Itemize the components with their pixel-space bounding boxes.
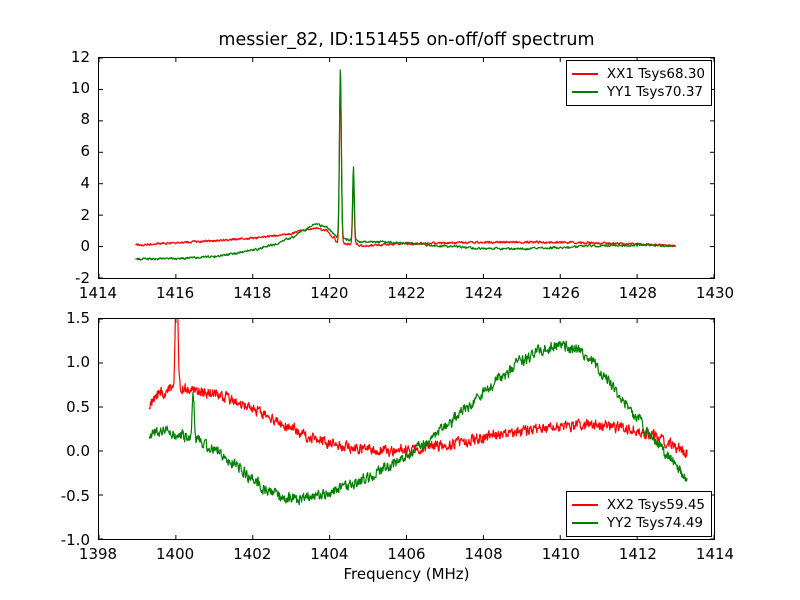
ytick-top-7: 12 (48, 48, 90, 66)
series-line-xx1 (136, 84, 676, 247)
top-panel-axes: XX1 Tsys68.30 YY1 Tsys70.37 (98, 57, 715, 279)
legend-label-xx1: XX1 Tsys68.30 (607, 65, 705, 83)
ytick-top-2: 2 (48, 206, 90, 224)
xtick-bottom-4: 1406 (387, 545, 425, 563)
legend-line-icon-yy1 (572, 91, 598, 93)
xtick-bottom-6: 1410 (542, 545, 580, 563)
bottom-panel-axes: XX2 Tsys59.45 YY2 Tsys74.49 (98, 318, 715, 540)
legend-label-yy1: YY1 Tsys70.37 (607, 83, 703, 101)
page-title: messier_82, ID:151455 on-off/off spectru… (98, 30, 715, 50)
legend-item-yy1: YY1 Tsys70.37 (572, 83, 705, 101)
ytick-bottom-3: 0.5 (36, 398, 90, 416)
xtick-top-5: 1424 (465, 284, 503, 302)
xtick-bottom-1: 1400 (156, 545, 194, 563)
top-panel-legend: XX1 Tsys68.30 YY1 Tsys70.37 (566, 60, 712, 106)
figure-canvas: messier_82, ID:151455 on-off/off spectru… (0, 0, 800, 600)
ytick-top-5: 8 (48, 110, 90, 128)
legend-line-icon-xx2 (572, 504, 598, 506)
xtick-top-1: 1416 (156, 284, 194, 302)
ytick-bottom-5: 1.5 (36, 309, 90, 327)
xtick-top-2: 1418 (233, 284, 271, 302)
bottom-panel-xlabel: Frequency (MHz) (98, 565, 715, 583)
ytick-top-4: 6 (48, 142, 90, 160)
ytick-bottom-2: 0.0 (36, 442, 90, 460)
xtick-top-4: 1422 (387, 284, 425, 302)
ytick-top-6: 10 (48, 79, 90, 97)
xtick-top-3: 1420 (310, 284, 348, 302)
ytick-top-3: 4 (48, 174, 90, 192)
legend-line-icon-xx1 (572, 73, 598, 75)
bottom-panel-legend: XX2 Tsys59.45 YY2 Tsys74.49 (566, 491, 712, 537)
xtick-top-0: 1414 (79, 284, 117, 302)
series-line-xx2 (149, 319, 687, 457)
legend-line-icon-yy2 (572, 522, 598, 524)
xtick-top-8: 1430 (696, 284, 734, 302)
xtick-top-6: 1426 (542, 284, 580, 302)
xtick-bottom-7: 1412 (619, 545, 657, 563)
legend-item-xx1: XX1 Tsys68.30 (572, 65, 705, 83)
ytick-top-1: 0 (48, 237, 90, 255)
xtick-top-7: 1428 (619, 284, 657, 302)
xtick-bottom-0: 1398 (79, 545, 117, 563)
legend-item-yy2: YY2 Tsys74.49 (572, 514, 705, 532)
xtick-bottom-8: 1414 (696, 545, 734, 563)
legend-label-xx2: XX2 Tsys59.45 (607, 496, 705, 514)
xtick-bottom-2: 1402 (233, 545, 271, 563)
xtick-bottom-3: 1404 (310, 545, 348, 563)
ytick-bottom-1: -0.5 (36, 487, 90, 505)
ytick-bottom-4: 1.0 (36, 353, 90, 371)
legend-item-xx2: XX2 Tsys59.45 (572, 496, 705, 514)
legend-label-yy2: YY2 Tsys74.49 (607, 514, 703, 532)
xtick-bottom-5: 1408 (465, 545, 503, 563)
